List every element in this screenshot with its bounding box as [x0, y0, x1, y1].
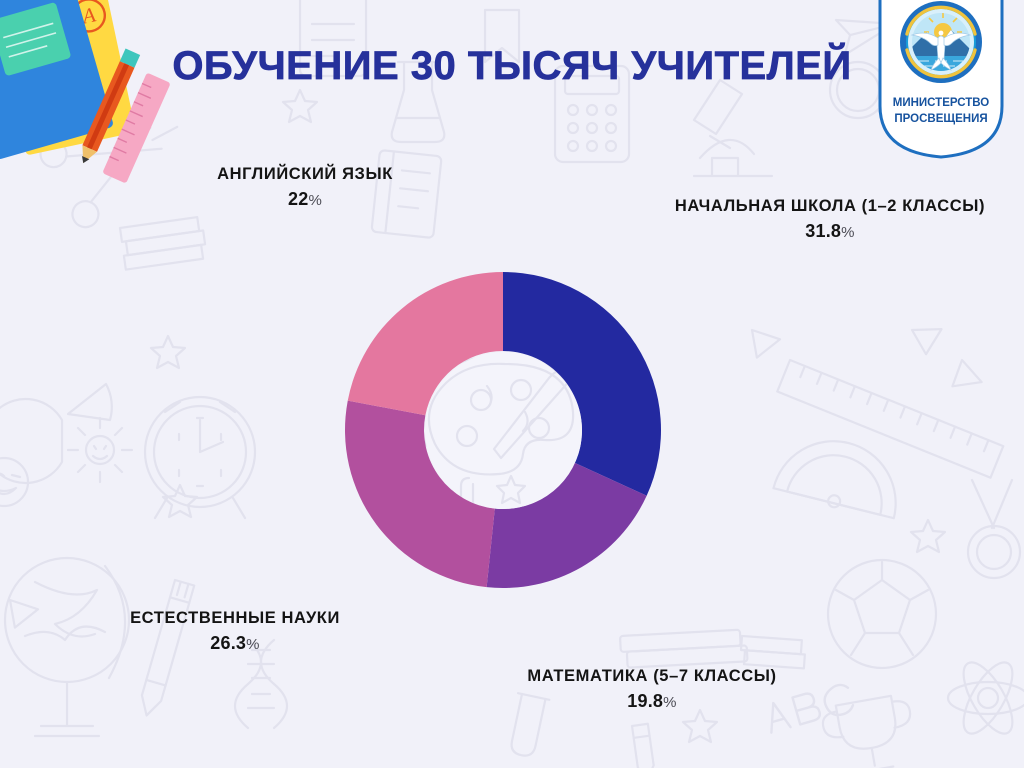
soccer-ball-icon: [828, 560, 936, 668]
page-title: ОБУЧЕНИЕ 30 ТЫСЯЧ УЧИТЕЛЕЙ: [0, 44, 1024, 89]
slice-label-science-value: 26.3%: [92, 632, 378, 655]
pencil-icon: [632, 724, 655, 768]
slice-label-primary-school-name: НАЧАЛЬНАЯ ШКОЛА (1–2 КЛАССЫ): [642, 196, 1018, 217]
ruler-icon: [952, 360, 986, 395]
ministry-line2: ПРОСВЕЩЕНИЯ: [894, 113, 987, 125]
ruler-icon: [752, 325, 782, 357]
slice-label-science: ЕСТЕСТВЕННЫЕ НАУКИ 26.3%: [92, 608, 378, 655]
smiley-icon: [0, 458, 28, 506]
slice-label-english-value: 22%: [168, 188, 442, 211]
books-icon: [120, 217, 207, 270]
slice-label-english-name: АНГЛИЙСКИЙ ЯЗЫК: [168, 164, 442, 185]
protractor-icon: [773, 428, 909, 522]
ministry-line1: МИНИСТЕРСТВО: [893, 97, 990, 109]
star-icon: [497, 476, 525, 503]
slice-label-math: МАТЕМАТИКА (5–7 КЛАССЫ) 19.8%: [462, 666, 842, 713]
ruler-icon: [10, 595, 40, 627]
paperclip-icon: [461, 478, 473, 508]
slice-label-primary-school-value: 31.8%: [642, 220, 1018, 243]
star-icon: [283, 90, 317, 122]
kyrgyz-republic-emblem: [900, 1, 982, 83]
atom-icon: [948, 655, 1024, 740]
star-icon: [151, 336, 185, 368]
star-icon: [163, 485, 197, 517]
slice-label-math-name: МАТЕМАТИКА (5–7 КЛАССЫ): [462, 666, 842, 687]
microscope-icon: [694, 80, 772, 176]
books-icon: [740, 636, 806, 668]
star-icon: [683, 710, 717, 742]
slice-label-science-name: ЕСТЕСТВЕННЫЕ НАУКИ: [92, 608, 378, 629]
pink-ruler-icon: [102, 73, 170, 184]
slice-label-primary-school: НАЧАЛЬНАЯ ШКОЛА (1–2 КЛАССЫ) 31.8%: [642, 196, 1018, 243]
alarm-clock-icon: [145, 397, 255, 518]
palette-icon: [429, 364, 573, 508]
slice-label-math-value: 19.8%: [462, 690, 842, 713]
donut-center-hole: [425, 352, 582, 509]
star-icon: [911, 520, 945, 552]
sun-icon: [68, 418, 132, 482]
books-icon: [620, 629, 748, 668]
svg-text:A: A: [78, 2, 98, 29]
ruler-icon: [912, 317, 949, 354]
infographic-slide: A: [0, 0, 1024, 768]
pie-chart-icon: [0, 384, 112, 483]
ruler-icon: [777, 360, 1003, 478]
medal-icon: [968, 480, 1020, 578]
ministry-logo-badge: МИНИСТЕРСТВО ПРОСВЕЩЕНИЯ: [876, 0, 1006, 160]
slice-label-english: АНГЛИЙСКИЙ ЯЗЫК 22%: [168, 164, 442, 211]
